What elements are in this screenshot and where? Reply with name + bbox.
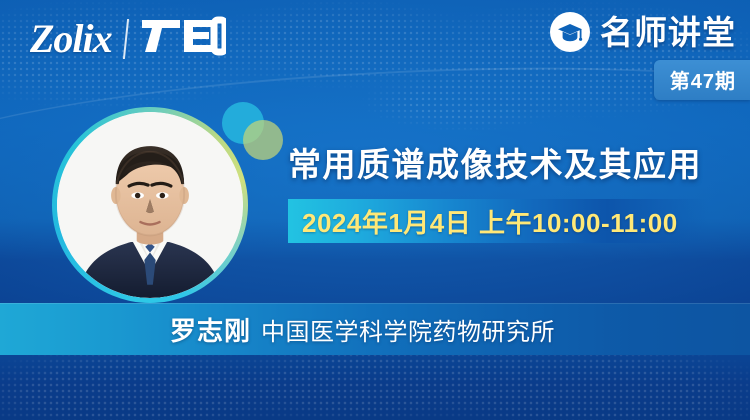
brand-title: 名师讲堂 xyxy=(600,16,736,49)
speaker-name: 罗志刚 xyxy=(170,311,251,348)
date-time-bar: 2024年1月4日 上午10:00-11:00 xyxy=(288,199,708,243)
bottom-dark-band xyxy=(0,355,750,420)
speaker-portrait xyxy=(57,112,243,298)
logo-divider xyxy=(123,19,129,59)
speaker-portrait-ring xyxy=(52,107,248,303)
date-time-text: 2024年1月4日 上午10:00-11:00 xyxy=(288,203,678,240)
deco-circle-green xyxy=(243,120,283,160)
issue-badge: 第47期 xyxy=(654,60,750,100)
speaker-info: 罗志刚 中国医学科学院药物研究所 xyxy=(170,311,555,348)
brand-block: 名师讲堂 xyxy=(550,12,736,52)
neo-logo[interactable] xyxy=(140,16,226,61)
webinar-poster: Zolix 名师讲堂 第47期 xyxy=(0,0,750,420)
zolix-logo[interactable]: Zolix xyxy=(30,19,112,59)
graduation-cap-icon xyxy=(550,12,590,52)
logo-row: Zolix xyxy=(30,16,226,61)
dotted-world-map-bottom xyxy=(0,352,750,420)
speaker-organization: 中国医学科学院药物研究所 xyxy=(261,312,555,347)
lecture-title: 常用质谱成像技术及其应用 xyxy=(288,146,702,184)
